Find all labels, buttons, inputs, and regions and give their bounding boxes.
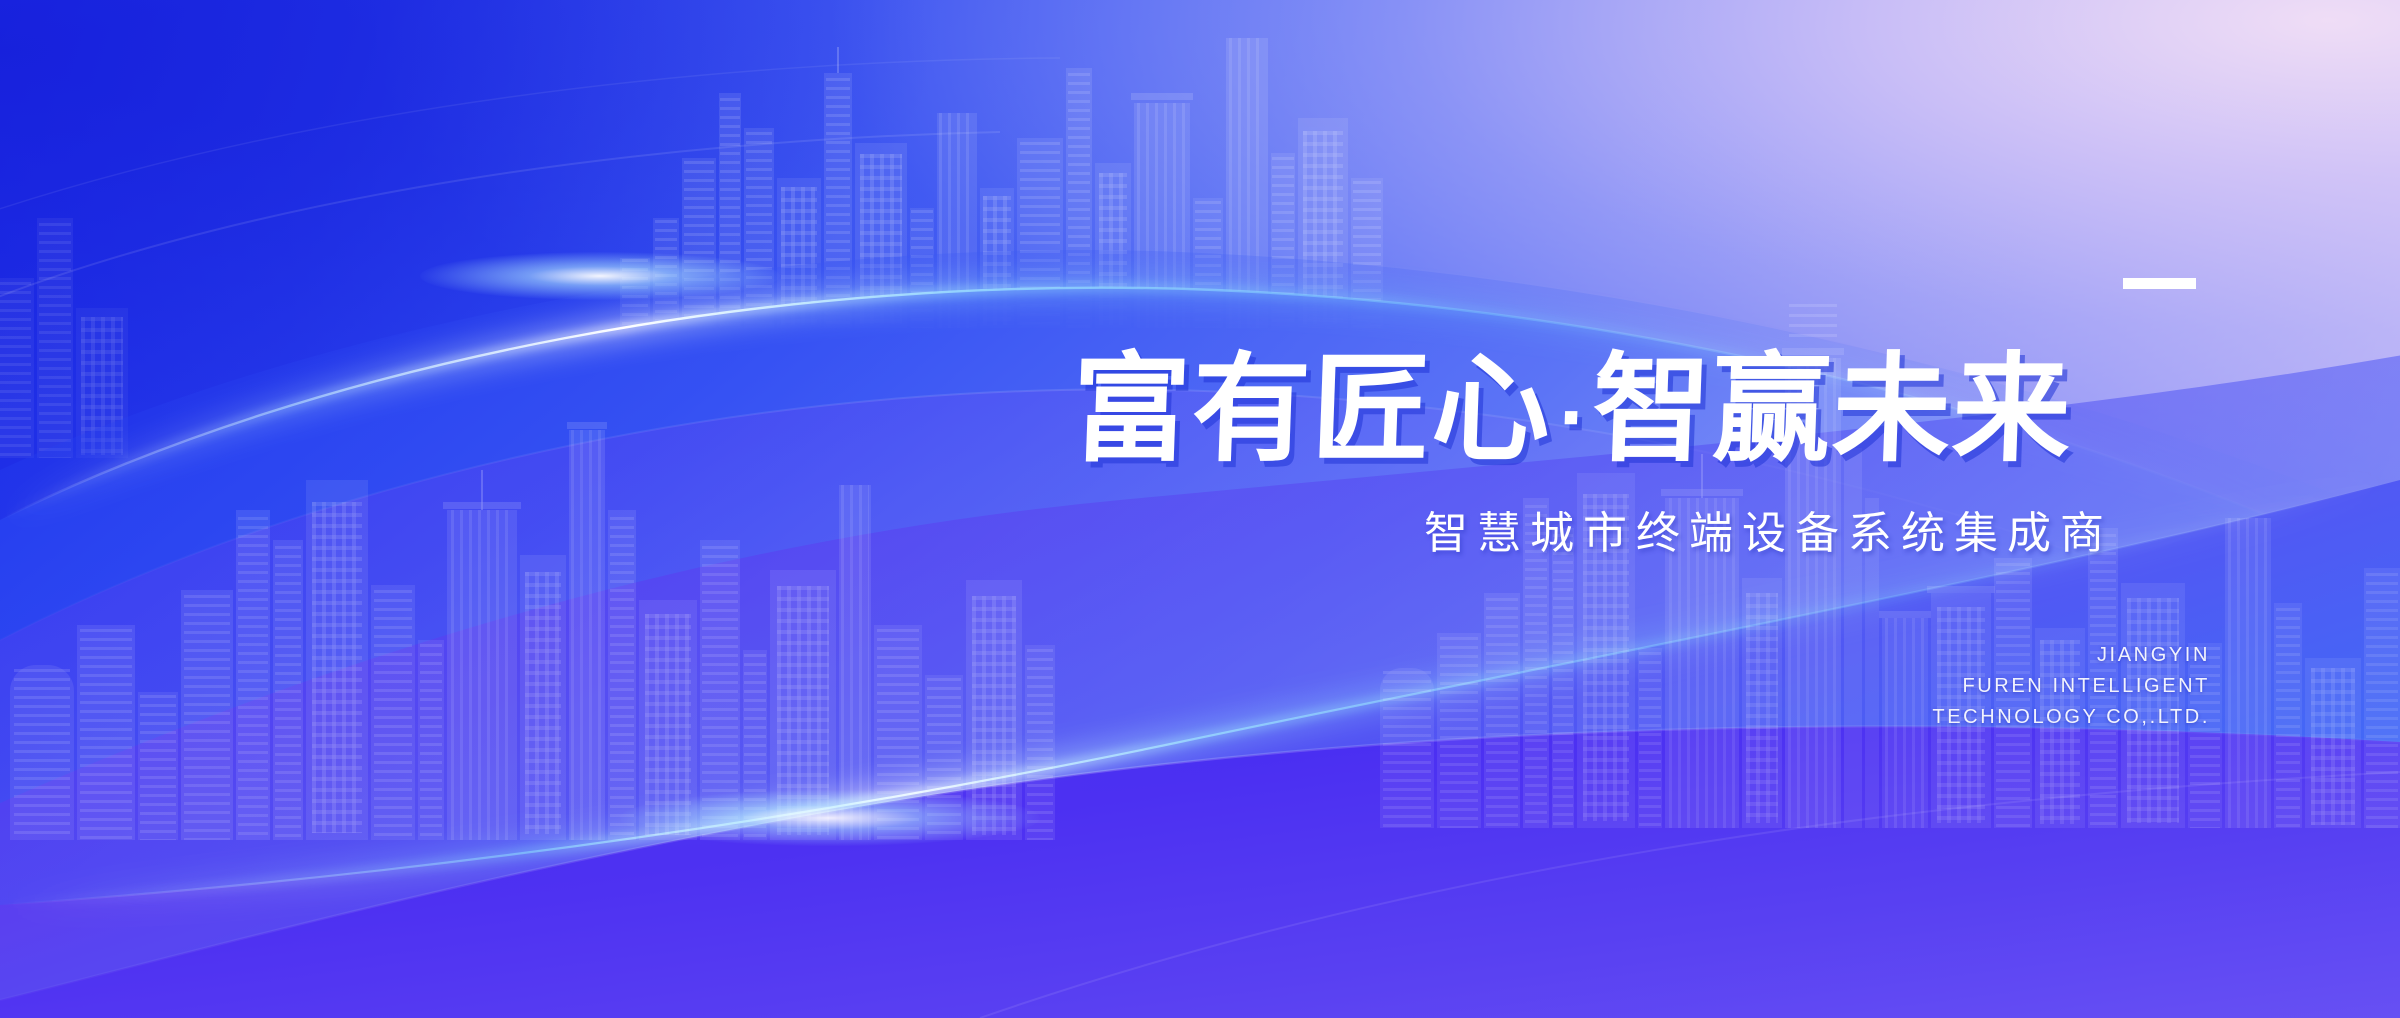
headline-part-1: 富有匠心 (1070, 340, 1555, 478)
page-subtitle: 智慧城市终端设备系统集成商 (1424, 512, 2113, 556)
company-line-2: FUREN INTELLIGENT (1932, 671, 2210, 702)
dash-decoration (2123, 278, 2196, 289)
cityscape-lower-left (10, 430, 1058, 840)
company-line-3: TECHNOLOGY CO,.LTD. (1932, 702, 2210, 733)
headline-part-2: 智赢未来 (1590, 340, 2075, 478)
company-line-1: JIANGYIN (1932, 640, 2210, 671)
headline-separator: · (1550, 377, 1593, 459)
company-name-block: JIANGYIN FUREN INTELLIGENT TECHNOLOGY CO… (1932, 640, 2210, 733)
page-title: 富有匠心·智赢未来 (1070, 350, 2075, 468)
marketing-banner: 富有匠心·智赢未来 智慧城市终端设备系统集成商 JIANGYIN FUREN I… (0, 0, 2400, 1018)
